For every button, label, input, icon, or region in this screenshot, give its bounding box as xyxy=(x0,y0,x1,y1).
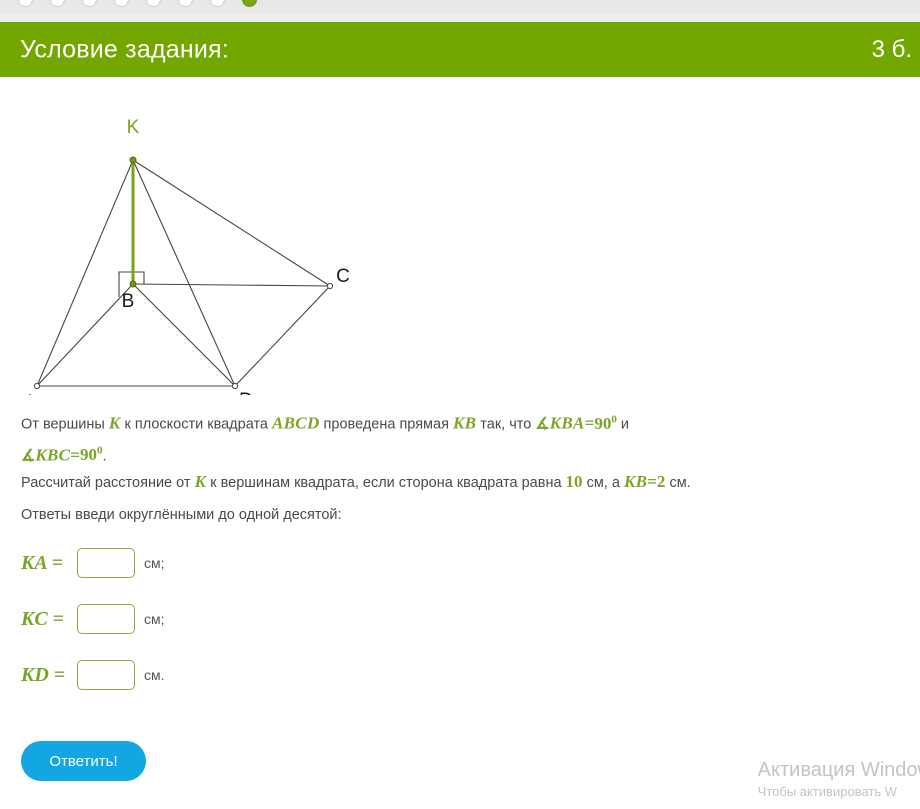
statement-text: к плоскости квадрата xyxy=(120,417,272,433)
progress-step-1[interactable] xyxy=(18,0,33,7)
figure-label-B: B xyxy=(122,291,135,312)
math-KB: KB xyxy=(453,414,476,433)
strip-divider xyxy=(0,14,920,22)
progress-step-7[interactable] xyxy=(210,0,225,7)
answer-row-kd: KD = см. xyxy=(21,657,165,693)
figure-label-D: D xyxy=(239,390,253,395)
answer-input-kc[interactable] xyxy=(77,604,135,634)
angle-symbol-icon-2: ∡ xyxy=(21,447,35,464)
math-KB-2: KB xyxy=(624,472,647,491)
math-side-length: 10 xyxy=(566,472,583,491)
statement-text: см. xyxy=(665,475,690,491)
answer-unit-ka: см; xyxy=(144,555,165,571)
math-90-2: 900 xyxy=(80,445,103,464)
progress-step-3[interactable] xyxy=(82,0,97,7)
answers-instruction: Ответы введи округлёнными до одной десят… xyxy=(21,507,342,523)
answer-row-ka: KA = см; xyxy=(21,545,165,581)
points-badge: 3 б. xyxy=(872,36,912,64)
math-equals-3: = xyxy=(647,472,657,491)
statement-line-1: От вершины K к плоскости квадрата ABCD п… xyxy=(21,407,881,438)
figure-label-C: C xyxy=(336,266,350,287)
problem-statement: От вершины K к плоскости квадрата ABCD п… xyxy=(21,407,881,496)
math-equals-2: = xyxy=(70,445,80,464)
progress-step-2[interactable] xyxy=(50,0,65,7)
math-K: K xyxy=(109,414,121,433)
math-90-value: 90 xyxy=(594,414,611,433)
math-ABCD: ABCD xyxy=(272,414,320,433)
progress-steps-strip xyxy=(0,0,920,22)
progress-step-5[interactable] xyxy=(146,0,161,7)
answer-label-ka: KA = xyxy=(21,552,69,575)
statement-text: . xyxy=(102,448,106,464)
statement-text: к вершинам квадрата, если сторона квадра… xyxy=(206,475,565,491)
progress-step-8-active[interactable] xyxy=(242,0,257,7)
progress-step-6[interactable] xyxy=(178,0,193,7)
angle-symbol-icon: ∡ xyxy=(535,416,549,433)
math-KBC: KBC xyxy=(35,445,70,464)
windows-activation-watermark: Активация Windows Чтобы активировать W xyxy=(758,758,920,801)
geometry-figure: K B A D C xyxy=(0,95,400,395)
math-KBA: KBA xyxy=(550,414,585,433)
math-90: 900 xyxy=(594,414,617,433)
task-header-bar: Условие задания: 3 б. xyxy=(0,22,920,77)
progress-steps-row xyxy=(18,0,257,7)
figure-label-K: K xyxy=(127,117,140,138)
watermark-title: Активация Windows xyxy=(758,758,920,783)
math-equals: = xyxy=(585,414,595,433)
answer-input-ka[interactable] xyxy=(77,548,135,578)
answer-label-kd: KD = xyxy=(21,664,69,687)
answer-row-kc: KC = см; xyxy=(21,601,165,637)
watermark-subtitle: Чтобы активировать W xyxy=(758,783,920,801)
statement-text: От вершины xyxy=(21,417,109,433)
answer-label-kc: KC = xyxy=(21,608,69,631)
statement-text: так, что xyxy=(476,417,535,433)
page-title: Условие задания: xyxy=(20,35,229,64)
math-90-value-2: 90 xyxy=(80,445,97,464)
task-content: K B A D C От вершины K к плоскости квадр… xyxy=(0,77,920,809)
statement-text: Рассчитай расстояние от xyxy=(21,475,195,491)
progress-step-4[interactable] xyxy=(114,0,129,7)
submit-answer-button[interactable]: Ответить! xyxy=(21,741,146,781)
statement-line-2: ∡KBC=900. xyxy=(21,439,881,470)
answer-unit-kc: см; xyxy=(144,611,165,627)
statement-line-3: Рассчитай расстояние от K к вершинам ква… xyxy=(21,469,881,496)
statement-text: см, а xyxy=(583,475,624,491)
answer-unit-kd: см. xyxy=(144,667,165,683)
math-K-2: K xyxy=(195,472,207,491)
statement-text: проведена прямая xyxy=(320,417,453,433)
statement-text: и xyxy=(617,417,629,433)
figure-label-A: A xyxy=(24,392,37,395)
answer-input-kd[interactable] xyxy=(77,660,135,690)
